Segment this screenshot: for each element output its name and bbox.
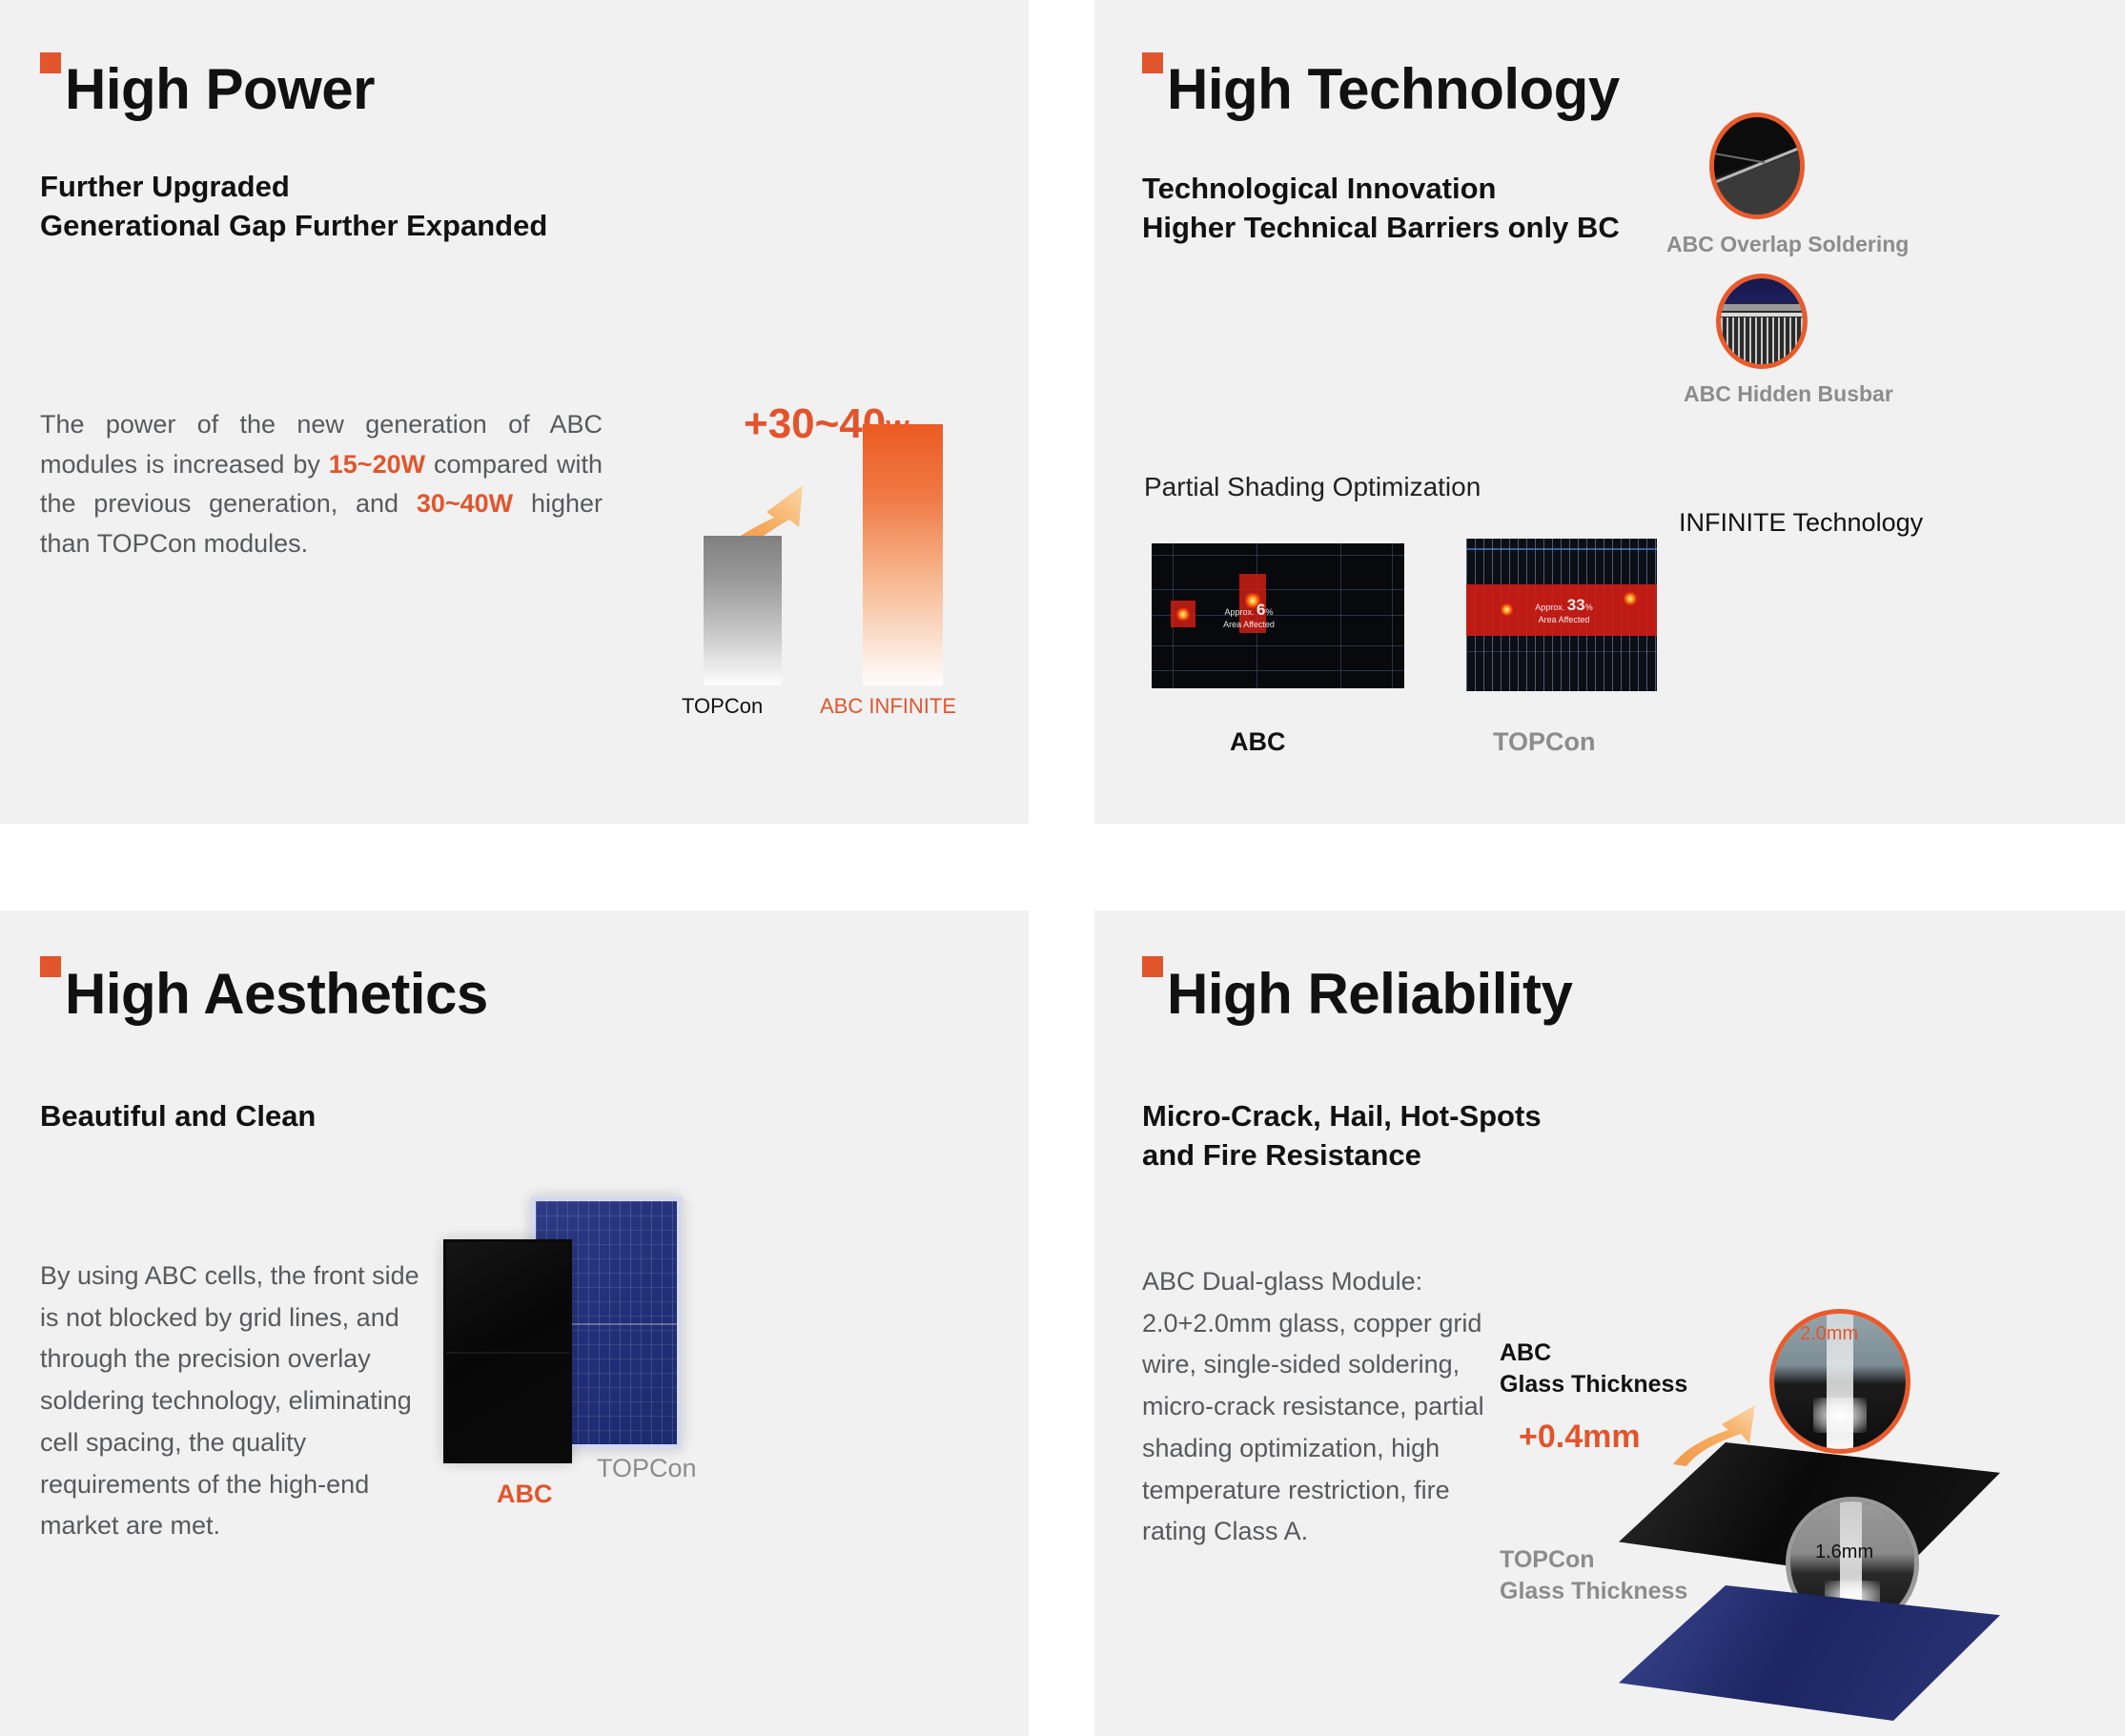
- body-text-high-power: The power of the new generation of ABC m…: [40, 405, 603, 563]
- bar-label-abc-infinite: ABC INFINITE: [820, 694, 956, 719]
- label-abc-glass-thickness: ABC Glass Thickness: [1500, 1338, 1687, 1400]
- solar-module-abc: [443, 1239, 572, 1463]
- subtitle-high-technology: Technological Innovation Higher Technica…: [1142, 170, 1620, 248]
- module-caption-topcon: TOPCon: [597, 1454, 697, 1483]
- label-infinite-technology: INFINITE Technology: [1679, 508, 1923, 538]
- module-caption-abc: ABC: [497, 1480, 553, 1509]
- orange-square-marker: [40, 52, 61, 73]
- feature-grid: High Power Further Upgraded Generational…: [0, 0, 2125, 1736]
- highlight-15-20w: 15~20W: [329, 450, 425, 479]
- overlay-text-abc: Approx. 6% Area Affected: [1192, 601, 1306, 629]
- subtitle-high-power: Further Upgraded Generational Gap Furthe…: [40, 168, 547, 246]
- panel-high-power: High Power Further Upgraded Generational…: [0, 0, 1029, 824]
- value-topcon-glass-thickness: 1.6mm: [1815, 1542, 1873, 1563]
- orange-square-marker: [1142, 52, 1163, 73]
- circle-abc-overlap-soldering: [1709, 112, 1805, 219]
- page-title-high-reliability: High Reliability: [1167, 966, 1572, 1023]
- subtitle-high-reliability: Micro-Crack, Hail, Hot-Spots and Fire Re…: [1142, 1097, 1542, 1175]
- orange-square-marker: [40, 956, 61, 977]
- shading-image-topcon: Approx. 33% Area Affected: [1466, 539, 1657, 691]
- circle-abc-glass-2mm: 2.0mm: [1769, 1309, 1910, 1454]
- shading-image-abc: Approx. 6% Area Affected: [1152, 543, 1404, 688]
- glass-thickness-diagram: ABC Glass Thickness +0.4mm 2.0mm: [1495, 1282, 2105, 1721]
- highlight-30-40w: 30~40W: [417, 489, 513, 518]
- body-text-high-aesthetics: By using ABC cells, the front side is no…: [40, 1256, 436, 1547]
- label-topcon-glass-thickness: TOPCon Glass Thickness: [1500, 1544, 1687, 1607]
- bar-topcon: [704, 536, 782, 685]
- panel-high-reliability: High Reliability Micro-Crack, Hail, Hot-…: [1094, 910, 2125, 1736]
- label-partial-shading-optimization: Partial Shading Optimization: [1144, 472, 1481, 502]
- caption-topcon: TOPCon: [1493, 727, 1596, 757]
- page-title-high-technology: High Technology: [1167, 61, 1620, 118]
- bar-label-topcon: TOPCon: [682, 694, 763, 719]
- panel-high-technology: High Technology Technological Innovation…: [1094, 0, 2125, 824]
- overlay-text-topcon: Approx. 33% Area Affected: [1504, 596, 1624, 624]
- page-title-high-power: High Power: [65, 61, 375, 118]
- value-abc-glass-thickness: 2.0mm: [1800, 1323, 1858, 1345]
- body-text-high-reliability: ABC Dual-glass Module: 2.0+2.0mm glass, …: [1142, 1261, 1500, 1553]
- subtitle-high-aesthetics: Beautiful and Clean: [40, 1097, 316, 1136]
- panel-high-aesthetics: High Aesthetics Beautiful and Clean By u…: [0, 910, 1029, 1736]
- circle-abc-hidden-busbar: [1716, 274, 1808, 369]
- caption-abc: ABC: [1230, 727, 1286, 757]
- caption-abc-overlap-soldering: ABC Overlap Soldering: [1666, 232, 1909, 257]
- label-plus-0-4mm: +0.4mm: [1519, 1419, 1641, 1456]
- orange-square-marker: [1142, 956, 1163, 977]
- page-title-high-aesthetics: High Aesthetics: [65, 966, 488, 1023]
- bar-abc-infinite: [863, 424, 943, 685]
- power-bar-chart: +30~40W TOPCon ABC INFINITE: [658, 400, 972, 753]
- caption-abc-hidden-busbar: ABC Hidden Busbar: [1684, 381, 1893, 407]
